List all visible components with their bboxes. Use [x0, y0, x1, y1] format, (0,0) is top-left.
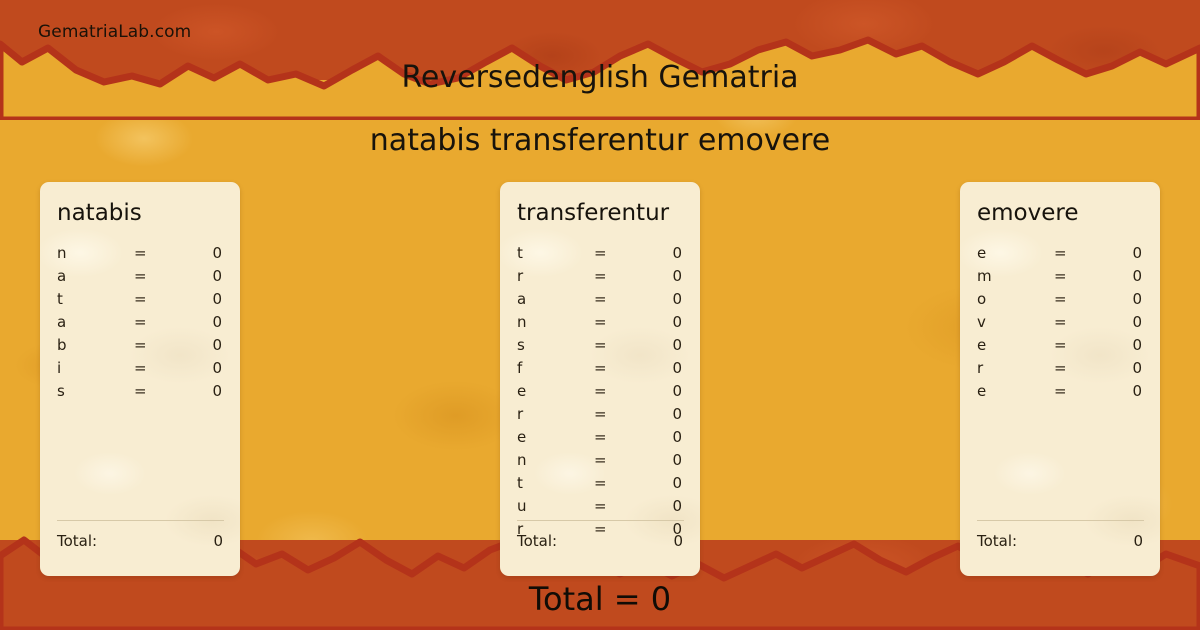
grand-total: Total = 0 — [0, 580, 1200, 618]
row-equals-sign: = — [594, 288, 607, 311]
row-value: 0 — [1132, 242, 1142, 265]
row-letter: r — [517, 403, 523, 426]
row-value: 0 — [672, 472, 682, 495]
row-letter: t — [57, 288, 63, 311]
row-equals-sign: = — [594, 311, 607, 334]
row-equals-sign: = — [134, 357, 147, 380]
letter-row: s=0 — [500, 334, 700, 357]
row-value: 0 — [672, 288, 682, 311]
row-value: 0 — [1132, 265, 1142, 288]
letter-row: r=0 — [960, 357, 1160, 380]
row-letter: t — [517, 472, 523, 495]
row-equals-sign: = — [594, 357, 607, 380]
row-value: 0 — [672, 403, 682, 426]
letter-row: o=0 — [960, 288, 1160, 311]
row-equals-sign: = — [594, 242, 607, 265]
letter-row: u=0 — [500, 495, 700, 518]
total-divider — [57, 520, 224, 521]
row-value: 0 — [1132, 357, 1142, 380]
word-card-natabis: natabis n=0a=0t=0a=0b=0i=0s=0 Total: 0 — [40, 182, 240, 576]
row-equals-sign: = — [594, 403, 607, 426]
letter-row: t=0 — [500, 242, 700, 265]
letter-row: e=0 — [500, 380, 700, 403]
row-letter: a — [57, 311, 66, 334]
letter-rows: n=0a=0t=0a=0b=0i=0s=0 — [40, 242, 240, 403]
row-letter: u — [517, 495, 527, 518]
letter-row: t=0 — [40, 288, 240, 311]
letter-row: e=0 — [960, 242, 1160, 265]
row-letter: s — [517, 334, 525, 357]
letter-row: n=0 — [500, 311, 700, 334]
row-letter: b — [57, 334, 67, 357]
row-value: 0 — [672, 380, 682, 403]
card-word: transferentur — [517, 200, 669, 226]
letter-row: s=0 — [40, 380, 240, 403]
row-value: 0 — [1132, 334, 1142, 357]
row-equals-sign: = — [1054, 357, 1067, 380]
row-value: 0 — [672, 242, 682, 265]
row-value: 0 — [672, 357, 682, 380]
total-divider — [517, 520, 684, 521]
row-letter: o — [977, 288, 986, 311]
row-letter: e — [977, 380, 986, 403]
row-value: 0 — [672, 265, 682, 288]
row-equals-sign: = — [134, 242, 147, 265]
row-equals-sign: = — [134, 265, 147, 288]
row-value: 0 — [1132, 380, 1142, 403]
row-equals-sign: = — [594, 334, 607, 357]
row-equals-sign: = — [1054, 311, 1067, 334]
row-letter: n — [57, 242, 67, 265]
total-value: 0 — [213, 532, 223, 550]
row-letter: a — [57, 265, 66, 288]
card-total: Total: 0 — [517, 520, 684, 550]
letter-row: e=0 — [500, 426, 700, 449]
row-equals-sign: = — [594, 265, 607, 288]
row-equals-sign: = — [134, 380, 147, 403]
letter-row: f=0 — [500, 357, 700, 380]
word-card-transferentur: transferentur t=0r=0a=0n=0s=0f=0e=0r=0e=… — [500, 182, 700, 576]
row-letter: e — [517, 426, 526, 449]
row-letter: e — [977, 334, 986, 357]
total-divider — [977, 520, 1144, 521]
row-equals-sign: = — [1054, 380, 1067, 403]
row-value: 0 — [212, 334, 222, 357]
total-label: Total: — [57, 532, 97, 550]
row-value: 0 — [212, 357, 222, 380]
row-equals-sign: = — [134, 288, 147, 311]
card-total: Total: 0 — [57, 520, 224, 550]
letter-row: n=0 — [500, 449, 700, 472]
row-letter: n — [517, 311, 527, 334]
row-equals-sign: = — [134, 334, 147, 357]
letter-row: i=0 — [40, 357, 240, 380]
row-letter: a — [517, 288, 526, 311]
row-value: 0 — [1132, 311, 1142, 334]
row-equals-sign: = — [1054, 242, 1067, 265]
row-value: 0 — [212, 242, 222, 265]
row-letter: n — [517, 449, 527, 472]
row-value: 0 — [672, 449, 682, 472]
row-equals-sign: = — [594, 380, 607, 403]
row-letter: r — [517, 265, 523, 288]
page-subtitle: natabis transferentur emovere — [0, 123, 1200, 158]
letter-row: v=0 — [960, 311, 1160, 334]
row-value: 0 — [1132, 288, 1142, 311]
letter-row: r=0 — [500, 265, 700, 288]
row-letter: s — [57, 380, 65, 403]
letter-row: t=0 — [500, 472, 700, 495]
total-value: 0 — [1133, 532, 1143, 550]
gematria-page: GematriaLab.com Reversedenglish Gematria… — [0, 0, 1200, 630]
letter-row: e=0 — [960, 380, 1160, 403]
row-letter: f — [517, 357, 522, 380]
total-value: 0 — [673, 532, 683, 550]
row-value: 0 — [212, 265, 222, 288]
row-letter: r — [977, 357, 983, 380]
row-letter: t — [517, 242, 523, 265]
letter-row: r=0 — [500, 403, 700, 426]
row-value: 0 — [212, 288, 222, 311]
row-letter: e — [517, 380, 526, 403]
row-equals-sign: = — [134, 311, 147, 334]
row-value: 0 — [672, 334, 682, 357]
row-value: 0 — [212, 311, 222, 334]
row-equals-sign: = — [594, 495, 607, 518]
row-equals-sign: = — [1054, 288, 1067, 311]
row-equals-sign: = — [1054, 265, 1067, 288]
page-title: Reversedenglish Gematria — [0, 60, 1200, 95]
letter-row: a=0 — [40, 265, 240, 288]
row-letter: i — [57, 357, 61, 380]
row-value: 0 — [672, 426, 682, 449]
letter-row: n=0 — [40, 242, 240, 265]
row-letter: e — [977, 242, 986, 265]
row-letter: m — [977, 265, 992, 288]
row-letter: v — [977, 311, 986, 334]
row-equals-sign: = — [1054, 334, 1067, 357]
word-card-emovere: emovere e=0m=0o=0v=0e=0r=0e=0 Total: 0 — [960, 182, 1160, 576]
total-label: Total: — [977, 532, 1017, 550]
letter-row: a=0 — [40, 311, 240, 334]
total-label: Total: — [517, 532, 557, 550]
letter-rows: e=0m=0o=0v=0e=0r=0e=0 — [960, 242, 1160, 403]
row-equals-sign: = — [594, 472, 607, 495]
card-word: emovere — [977, 200, 1079, 226]
letter-row: m=0 — [960, 265, 1160, 288]
row-value: 0 — [212, 380, 222, 403]
row-equals-sign: = — [594, 449, 607, 472]
row-value: 0 — [672, 495, 682, 518]
letter-row: b=0 — [40, 334, 240, 357]
letter-rows: t=0r=0a=0n=0s=0f=0e=0r=0e=0n=0t=0u=0r=0 — [500, 242, 700, 541]
letter-row: e=0 — [960, 334, 1160, 357]
letter-row: a=0 — [500, 288, 700, 311]
card-total: Total: 0 — [977, 520, 1144, 550]
card-word: natabis — [57, 200, 142, 226]
row-value: 0 — [672, 311, 682, 334]
row-equals-sign: = — [594, 426, 607, 449]
site-brand[interactable]: GematriaLab.com — [38, 22, 191, 42]
